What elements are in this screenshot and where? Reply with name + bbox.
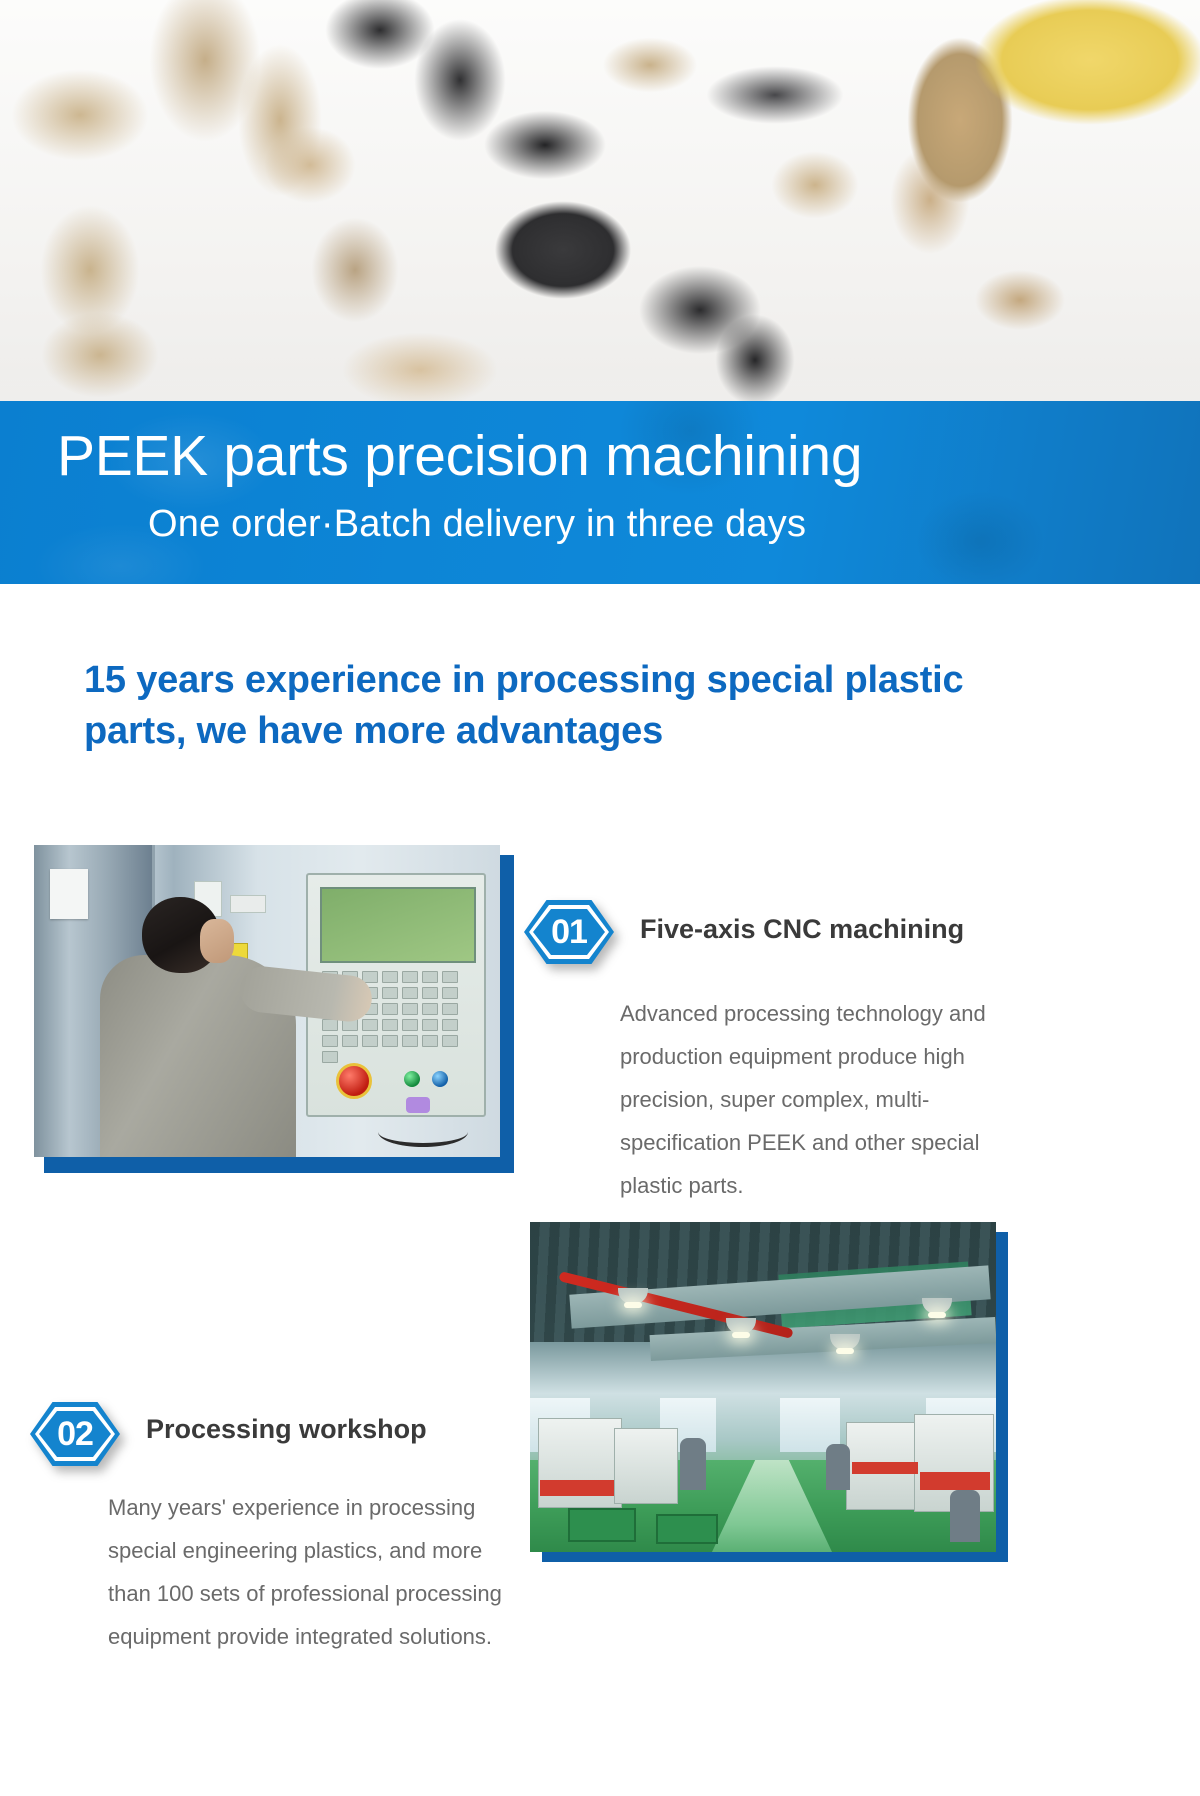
workshop-machine-panel-2 <box>920 1472 990 1490</box>
feature-1-badge-row: 01 Five-axis CNC machining <box>524 900 1044 964</box>
workshop-worker-3 <box>950 1490 980 1542</box>
cnc-paper-sheet <box>50 869 88 919</box>
emergency-stop-button <box>336 1063 372 1099</box>
cnc-mode-button <box>432 1071 448 1087</box>
workshop-cart-2 <box>656 1514 718 1544</box>
worker-face <box>200 919 234 963</box>
feature-card-2: 02 Processing workshop Many years' exper… <box>30 1402 530 1658</box>
cnc-screen <box>320 887 476 963</box>
cnc-start-button <box>404 1071 420 1087</box>
feature-1-image: Y <box>34 845 504 1165</box>
hero-fade-overlay <box>0 0 1200 470</box>
workshop-machine-panel-1 <box>540 1480 614 1496</box>
feature-1-number: 01 <box>551 913 587 952</box>
hero-banner: PEEK parts precision machining One order… <box>0 401 1200 584</box>
workshop-worker-1 <box>680 1438 706 1490</box>
workshop-machine-2 <box>614 1428 678 1504</box>
hexagon-badge-icon: 01 <box>524 900 614 964</box>
feature-card-1: 01 Five-axis CNC machining Advanced proc… <box>524 900 1044 1207</box>
feature-2-image <box>530 1222 1008 1562</box>
cnc-machine-photo: Y <box>34 845 500 1157</box>
hero-product-photo <box>0 0 1200 470</box>
feature-2-body: Many years' experience in processing spe… <box>108 1486 528 1658</box>
cnc-indicator-light <box>406 1097 430 1113</box>
cnc-label-sticker-2 <box>230 895 266 913</box>
promo-page: PEEK parts precision machining One order… <box>0 0 1200 1796</box>
banner-title: PEEK parts precision machining <box>57 425 862 487</box>
factory-workshop-photo <box>530 1222 996 1552</box>
workshop-machine-panel-3 <box>852 1462 918 1474</box>
hexagon-badge-icon-2: 02 <box>30 1402 120 1466</box>
section-headline: 15 years experience in processing specia… <box>84 655 1044 757</box>
workshop-cart-1 <box>568 1508 636 1542</box>
feature-1-title: Five-axis CNC machining <box>640 914 964 945</box>
feature-2-title: Processing workshop <box>146 1414 427 1445</box>
banner-subtitle: One order·Batch delivery in three days <box>148 501 806 547</box>
cnc-cable <box>378 1117 468 1147</box>
workshop-worker-2 <box>826 1444 850 1490</box>
feature-2-badge-row: 02 Processing workshop <box>30 1402 530 1466</box>
feature-1-body: Advanced processing technology and produ… <box>620 992 1040 1207</box>
feature-2-number: 02 <box>57 1415 93 1454</box>
